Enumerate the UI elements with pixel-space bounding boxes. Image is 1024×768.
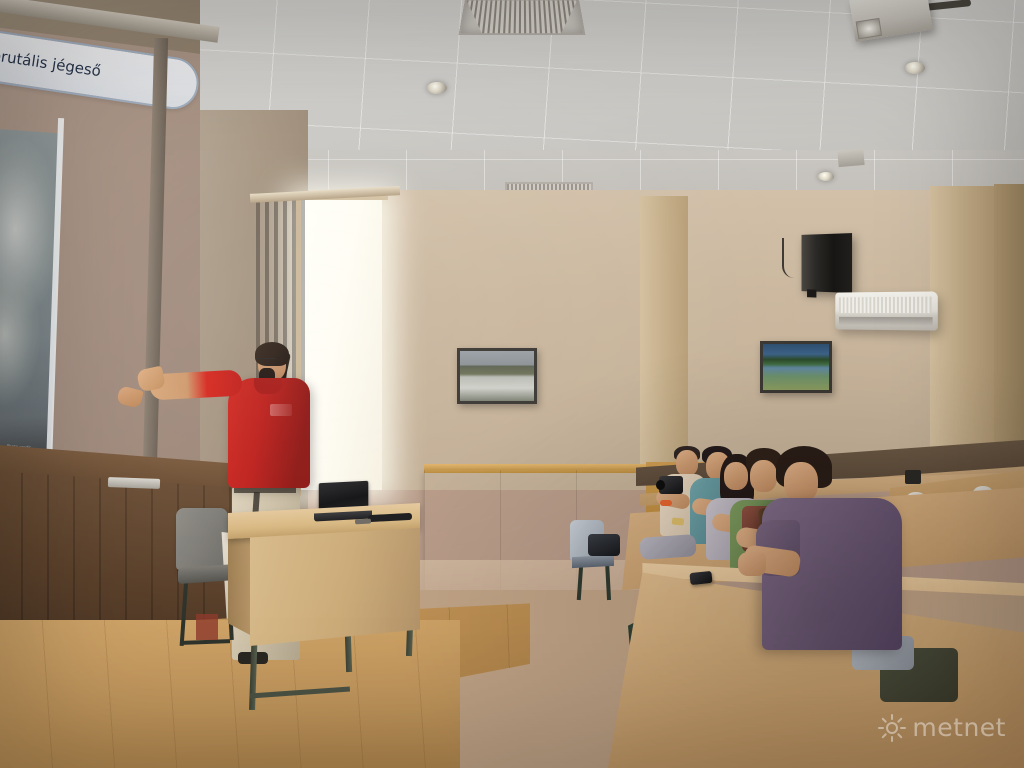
head [784, 462, 818, 502]
presenter-desk-front [250, 528, 420, 646]
head [750, 460, 777, 492]
ac-grille [839, 297, 932, 313]
shirt-logo [270, 404, 292, 416]
head [676, 450, 698, 476]
wall-speaker-icon [802, 233, 853, 293]
seat-object [905, 470, 921, 484]
folded-garment [639, 534, 696, 560]
bag [588, 534, 620, 556]
hvac-vent-icon [459, 0, 586, 35]
marker-tray [108, 477, 160, 489]
collar [254, 378, 282, 394]
picture-image [763, 344, 829, 390]
framed-picture-left [457, 348, 537, 404]
vent-louvers [461, 0, 583, 33]
glasses-icon [256, 358, 276, 363]
chair-seat [572, 555, 614, 568]
downlight-icon [818, 172, 834, 181]
ac-vane [839, 317, 933, 327]
mobile-phone-icon [689, 571, 712, 585]
camera-lens-icon [656, 480, 665, 490]
wall-corner [994, 184, 1024, 484]
red-polo-shirt [228, 378, 310, 488]
head [724, 462, 748, 490]
wall-pier [640, 196, 688, 476]
hand [738, 552, 766, 576]
floor-object [196, 614, 218, 640]
speaker-wire [782, 238, 802, 278]
projector-mount-bracket [837, 149, 864, 167]
wristband [660, 500, 672, 506]
picture-image [460, 351, 534, 401]
air-conditioner-icon [835, 291, 938, 330]
desk-object [355, 519, 371, 525]
framed-picture-right [760, 341, 832, 393]
projection-screen: Photo credit tornádó és brutális jégeső [0, 10, 250, 510]
downlight-icon [427, 82, 447, 94]
downlight-icon [905, 62, 925, 74]
lecture-hall-photo: Photo credit tornádó és brutális jégeső [0, 0, 1024, 768]
wall-pier [930, 186, 994, 486]
chair-backrest [176, 508, 228, 570]
wristwatch [672, 517, 685, 525]
